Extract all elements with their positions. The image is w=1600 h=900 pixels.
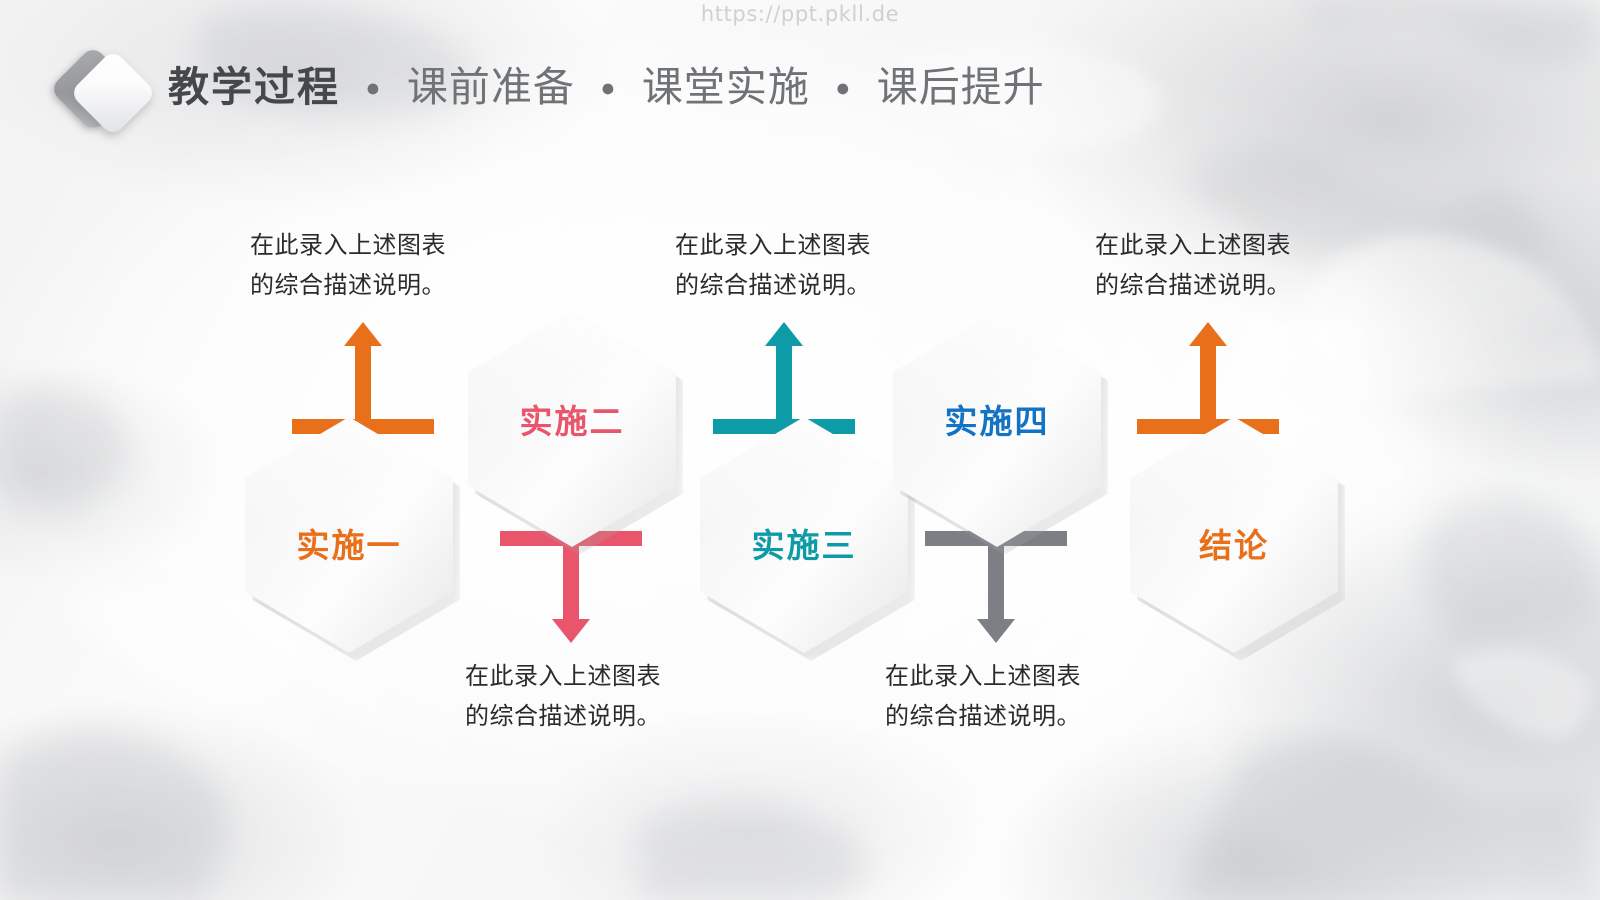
connector-1-stem bbox=[355, 344, 371, 422]
node-1-hexagon[interactable]: 实施一 bbox=[245, 417, 453, 653]
connector-5-head bbox=[1189, 322, 1227, 346]
connector-1-head bbox=[344, 322, 382, 346]
caption-4-line-2: 的综合描述说明。 bbox=[885, 697, 1135, 737]
caption-4-line-1: 在此录入上述图表 bbox=[885, 657, 1135, 697]
caption-3-line-1: 在此录入上述图表 bbox=[675, 226, 925, 266]
node-4-label: 实施四 bbox=[893, 405, 1101, 438]
node-3-hexagon[interactable]: 实施三 bbox=[700, 417, 908, 653]
caption-1: 在此录入上述图表 的综合描述说明。 bbox=[250, 226, 500, 306]
connector-3-stem bbox=[776, 344, 792, 422]
caption-2: 在此录入上述图表 的综合描述说明。 bbox=[465, 657, 715, 737]
connector-4-head bbox=[977, 619, 1015, 643]
caption-3-line-2: 的综合描述说明。 bbox=[675, 266, 925, 306]
caption-4: 在此录入上述图表 的综合描述说明。 bbox=[885, 657, 1135, 737]
caption-5: 在此录入上述图表 的综合描述说明。 bbox=[1095, 226, 1345, 306]
caption-5-line-1: 在此录入上述图表 bbox=[1095, 226, 1345, 266]
node-2-label: 实施二 bbox=[468, 405, 676, 438]
caption-1-line-2: 的综合描述说明。 bbox=[250, 266, 500, 306]
caption-2-line-1: 在此录入上述图表 bbox=[465, 657, 715, 697]
connector-5-stem bbox=[1200, 344, 1216, 422]
node-4-hexagon[interactable]: 实施四 bbox=[893, 311, 1101, 547]
connector-4-stem bbox=[988, 543, 1004, 621]
node-5-label: 结论 bbox=[1130, 529, 1338, 562]
node-2-hexagon[interactable]: 实施二 bbox=[468, 311, 676, 547]
node-1-label: 实施一 bbox=[245, 529, 453, 562]
caption-5-line-2: 的综合描述说明。 bbox=[1095, 266, 1345, 306]
node-3-label: 实施三 bbox=[700, 529, 908, 562]
connector-2-stem bbox=[563, 543, 579, 621]
slide-canvas: https://ppt.pkll.de 教学过程 ● 课前准备 ● 课堂实施 ●… bbox=[0, 0, 1600, 900]
caption-2-line-2: 的综合描述说明。 bbox=[465, 697, 715, 737]
node-5-hexagon[interactable]: 结论 bbox=[1130, 417, 1338, 653]
caption-1-line-1: 在此录入上述图表 bbox=[250, 226, 500, 266]
caption-3: 在此录入上述图表 的综合描述说明。 bbox=[675, 226, 925, 306]
process-diagram: 在此录入上述图表 的综合描述说明。 在此录入上述图表 的综合描述说明。 在此录入… bbox=[0, 0, 1600, 900]
connector-3-head bbox=[765, 322, 803, 346]
connector-2-head bbox=[552, 619, 590, 643]
